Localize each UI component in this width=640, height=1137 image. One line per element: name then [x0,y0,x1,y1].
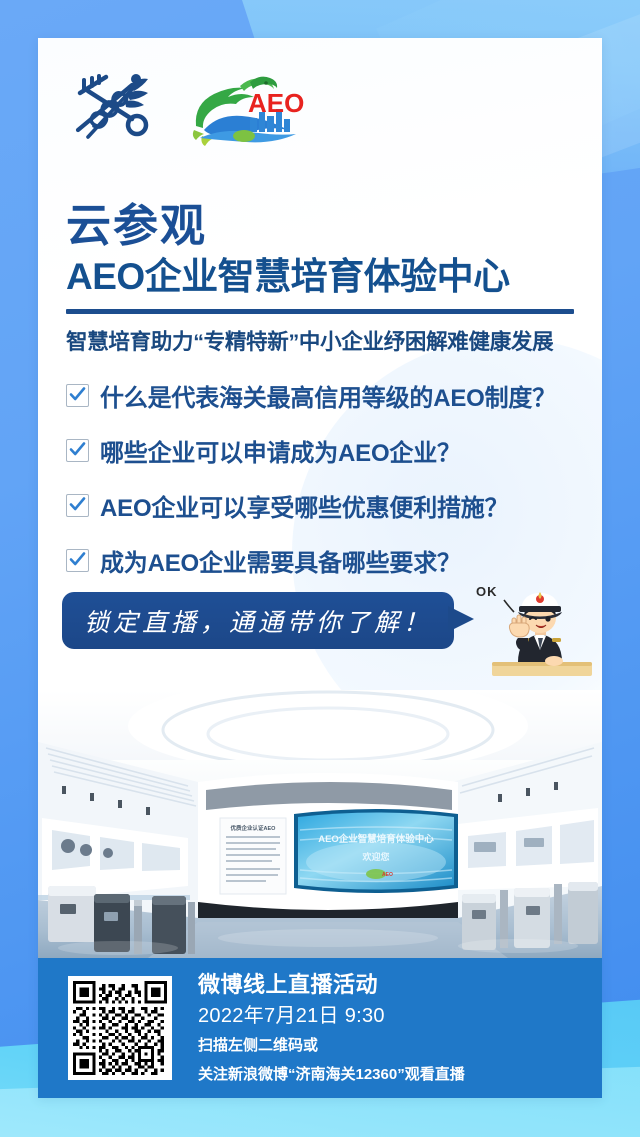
aeo-dragon-logo-icon: AEO [188,64,306,150]
exhibition-hall-photo: 优质企业认证AEO [38,690,602,958]
list-item-label: 成为AEO企业需要具备哪些要求？ [100,543,461,578]
event-instruction-line-1: 扫描左侧二维码或 [198,1035,465,1057]
wall-panel-title: 优质企业认证AEO [231,824,277,832]
question-list: 什么是代表海关最高信用等级的AEO制度？ 哪些企业可以申请成为AEO企业？ AE… [66,378,586,598]
event-title: 微博线上直播活动 [198,971,465,999]
callout-section: 锁定直播，通通带你了解！ OK [62,578,602,690]
list-item[interactable]: 哪些企业可以申请成为AEO企业？ [66,433,586,468]
china-customs-emblem-icon [66,67,152,147]
list-item-label: 什么是代表海关最高信用等级的AEO制度？ [100,378,556,413]
event-instruction-line-2: 关注新浪微博“济南海关12360”观看直播 [198,1064,465,1086]
list-item-label: AEO企业可以享受哪些优惠便利措施？ [100,488,508,523]
event-datetime: 2022年7月21日 9:30 [198,1004,465,1028]
svg-text:AEO: AEO [382,872,393,878]
list-item[interactable]: AEO企业可以享受哪些优惠便利措施？ [66,488,586,523]
poster-card: AEO 云参观 AEO企业智慧培育体验中心 智慧培育助力“专精特新”中小企业纾困… [38,38,602,1098]
info-text-block: 微博线上直播活动 2022年7月21日 9:30 扫描左侧二维码或 关注新浪微博… [198,971,465,1086]
logo-row: AEO [66,64,306,150]
checkbox-checked-icon[interactable] [66,494,89,517]
qr-code[interactable] [68,976,172,1080]
screen-headline: AEO企业智慧培育体验中心 [318,833,434,845]
live-event-info-panel: 微博线上直播活动 2022年7月21日 9:30 扫描左侧二维码或 关注新浪微博… [38,958,602,1098]
mascot-ok-label: OK [476,584,498,599]
page-title-sub: AEO企业智慧培育体验中心 [66,254,574,299]
checkbox-checked-icon[interactable] [66,439,89,462]
title-divider [66,309,574,314]
callout-text: 锁定直播，通通带你了解！ [84,603,432,639]
poster-root: AEO 云参观 AEO企业智慧培育体验中心 智慧培育助力“专精特新”中小企业纾困… [0,0,640,1137]
callout-tail [448,606,474,632]
callout-banner: 锁定直播，通通带你了解！ [62,592,454,649]
title-block: 云参观 AEO企业智慧培育体验中心 智慧培育助力“专精特新”中小企业纾困解难健康… [66,200,574,356]
checkbox-checked-icon[interactable] [66,384,89,407]
page-title-main: 云参观 [66,200,574,252]
screen-subline: 欢迎您 [361,851,389,862]
page-tagline: 智慧培育助力“专精特新”中小企业纾困解难健康发展 [66,325,574,356]
list-item[interactable]: 什么是代表海关最高信用等级的AEO制度？ [66,378,586,413]
list-item-label: 哪些企业可以申请成为AEO企业？ [100,433,461,468]
checkbox-checked-icon[interactable] [66,549,89,572]
list-item[interactable]: 成为AEO企业需要具备哪些要求？ [66,543,586,578]
svg-text:AEO: AEO [248,88,304,118]
customs-officer-mascot: OK [474,578,602,686]
